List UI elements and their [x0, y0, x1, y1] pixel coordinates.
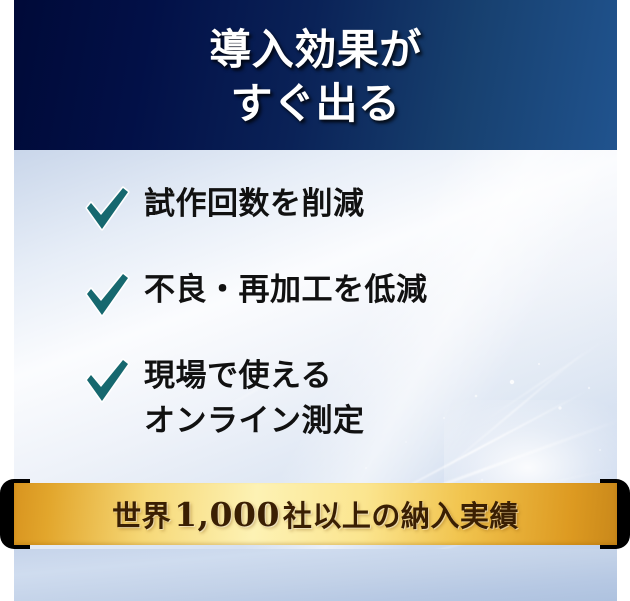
header-banner: 導入効果が すぐ出る [14, 0, 617, 150]
benefit-text-1-line-1: 試作回数を削減 [144, 186, 365, 222]
ribbon-prefix: 世界 [112, 499, 171, 533]
benefit-text-3: 現場で使える オンライン測定 [144, 354, 365, 444]
light-streak [481, 338, 606, 424]
promo-card: 導入効果が すぐ出る [0, 0, 630, 601]
footer-backdrop [14, 549, 617, 601]
benefit-text-3-line-2: オンライン測定 [144, 399, 365, 444]
benefit-text-2-line-1: 不良・再加工を低減 [144, 272, 428, 308]
benefit-item-1: 試作回数を削減 [82, 182, 365, 236]
benefit-text-3-line-1: 現場で使える [144, 358, 332, 394]
ribbon-number: 1,000 [171, 495, 283, 534]
ribbon-suffix: 社以上の納入実績 [283, 499, 519, 533]
ribbon-text: 世界1,000社以上の納入実績 [112, 493, 519, 535]
benefit-text-1: 試作回数を削減 [144, 182, 365, 227]
benefit-item-3: 現場で使える オンライン測定 [82, 354, 365, 444]
benefit-item-2: 不良・再加工を低減 [82, 268, 428, 322]
benefit-text-2: 不良・再加工を低減 [144, 268, 428, 313]
light-streak [437, 346, 591, 476]
checkmark-icon [82, 270, 132, 322]
header-title-line-2: すぐ出る [230, 77, 400, 131]
achievement-ribbon: 世界1,000社以上の納入実績 [0, 479, 630, 549]
header-title-line-1: 導入効果が [209, 23, 422, 77]
ribbon-body: 世界1,000社以上の納入実績 [14, 483, 617, 545]
checkmark-icon [82, 184, 132, 236]
checkmark-icon [82, 356, 132, 408]
